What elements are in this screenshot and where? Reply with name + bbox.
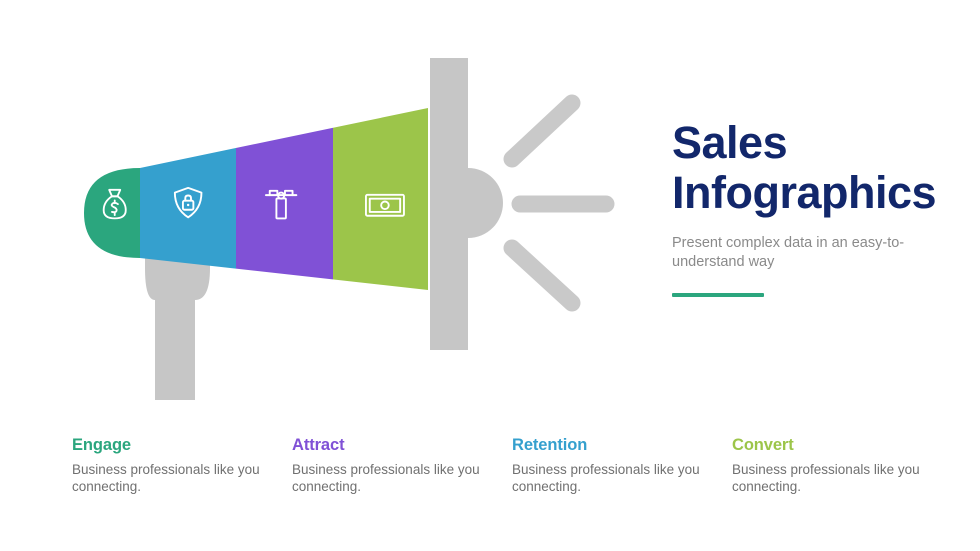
sound-wave-upper bbox=[512, 103, 572, 159]
legend-description-attract: Business professionals like you connecti… bbox=[292, 461, 482, 495]
legend-title-attract: Attract bbox=[292, 436, 512, 455]
sound-wave-lines bbox=[512, 103, 606, 303]
megaphone-mouth-bar bbox=[430, 58, 503, 350]
legend-item-convert: Convert Business professionals like you … bbox=[732, 436, 952, 495]
legend-title-convert: Convert bbox=[732, 436, 952, 455]
legend-item-retention: Retention Business professionals like yo… bbox=[512, 436, 732, 495]
headline-block: Sales Infographics Present complex data … bbox=[672, 118, 957, 297]
cone-segment-engage bbox=[60, 90, 140, 340]
accent-rule bbox=[672, 293, 764, 297]
legend-row: Engage Business professionals like you c… bbox=[72, 436, 952, 495]
cone-segment-retention bbox=[236, 90, 333, 340]
page-title-line-2: Infographics bbox=[672, 167, 936, 218]
sound-wave-lower bbox=[512, 248, 572, 303]
legend-description-retention: Business professionals like you connecti… bbox=[512, 461, 702, 495]
page-subtitle: Present complex data in an easy-to-under… bbox=[672, 234, 922, 272]
slide-canvas: Sales Infographics Present complex data … bbox=[0, 0, 980, 551]
legend-item-engage: Engage Business professionals like you c… bbox=[72, 436, 292, 495]
page-title: Sales Infographics bbox=[672, 118, 957, 218]
legend-description-engage: Business professionals like you connecti… bbox=[72, 461, 262, 495]
legend-title-retention: Retention bbox=[512, 436, 732, 455]
legend-description-convert: Business professionals like you connecti… bbox=[732, 461, 922, 495]
megaphone-illustration bbox=[0, 0, 640, 420]
page-title-line-1: Sales bbox=[672, 117, 787, 168]
legend-item-attract: Attract Business professionals like you … bbox=[292, 436, 512, 495]
legend-title-engage: Engage bbox=[72, 436, 292, 455]
